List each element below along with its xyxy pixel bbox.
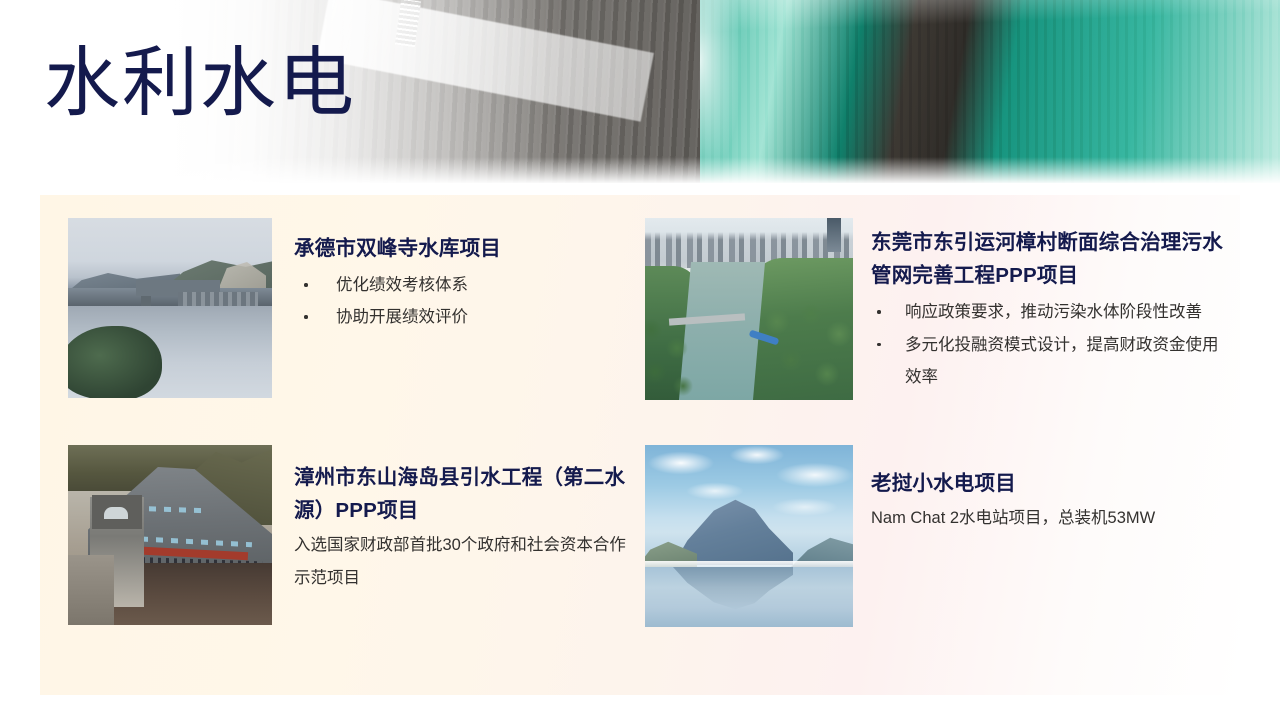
project-card: 老挝小水电项目 Nam Chat 2水电站项目，总装机53MW bbox=[645, 445, 1225, 627]
shoreline-foliage bbox=[68, 326, 162, 398]
banner-bottom-fade bbox=[0, 157, 1280, 183]
card-bullet-list: 响应政策要求，推动污染水体阶段性改善 多元化投融资模式设计，提高财政资金使用效率 bbox=[871, 296, 1225, 393]
dam-construction-site-photo bbox=[68, 445, 272, 625]
card-title: 承德市双峰寺水库项目 bbox=[294, 218, 638, 265]
urban-canal-aerial-photo bbox=[645, 218, 853, 400]
high-rise-tower bbox=[827, 218, 841, 252]
mountain-lake-reflection-photo bbox=[645, 445, 853, 627]
content-panel: 承德市双峰寺水库项目 优化绩效考核体系 协助开展绩效评价 东莞市东引运河樟村断面… bbox=[40, 195, 1240, 695]
project-card: 漳州市东山海岛县引水工程（第二水源）PPP项目 入选国家财政部首批30个政府和社… bbox=[68, 445, 638, 625]
project-card: 承德市双峰寺水库项目 优化绩效考核体系 协助开展绩效评价 bbox=[68, 218, 638, 398]
card-title: 漳州市东山海岛县引水工程（第二水源）PPP项目 bbox=[294, 445, 638, 527]
list-item: 协助开展绩效评价 bbox=[294, 301, 638, 333]
card-title: 东莞市东引运河樟村断面综合治理污水管网完善工程PPP项目 bbox=[871, 218, 1225, 292]
card-body: 漳州市东山海岛县引水工程（第二水源）PPP项目 入选国家财政部首批30个政府和社… bbox=[272, 445, 638, 594]
foreground-embankment bbox=[68, 555, 114, 625]
water-reflection bbox=[645, 567, 853, 627]
list-item: 优化绩效考核体系 bbox=[294, 269, 638, 301]
page-title: 水利水电 bbox=[44, 44, 356, 124]
card-description: 入选国家财政部首批30个政府和社会资本合作示范项目 bbox=[294, 529, 638, 593]
card-body: 东莞市东引运河樟村断面综合治理污水管网完善工程PPP项目 响应政策要求，推动污染… bbox=[853, 218, 1225, 393]
list-item: 响应政策要求，推动污染水体阶段性改善 bbox=[871, 296, 1225, 328]
card-body: 承德市双峰寺水库项目 优化绩效考核体系 协助开展绩效评价 bbox=[272, 218, 638, 334]
project-card: 东莞市东引运河樟村断面综合治理污水管网完善工程PPP项目 响应政策要求，推动污染… bbox=[645, 218, 1225, 400]
reservoir-dam-photo bbox=[68, 218, 272, 398]
tree-canopy-left bbox=[645, 314, 701, 400]
card-bullet-list: 优化绩效考核体系 协助开展绩效评价 bbox=[294, 269, 638, 333]
card-title: 老挝小水电项目 bbox=[871, 445, 1225, 500]
list-item: 多元化投融资模式设计，提高财政资金使用效率 bbox=[871, 329, 1225, 393]
tree-canopy-right bbox=[757, 300, 853, 400]
card-body: 老挝小水电项目 Nam Chat 2水电站项目，总装机53MW bbox=[853, 445, 1225, 534]
card-description: Nam Chat 2水电站项目，总装机53MW bbox=[871, 502, 1225, 534]
intake-tower-window bbox=[104, 507, 128, 519]
